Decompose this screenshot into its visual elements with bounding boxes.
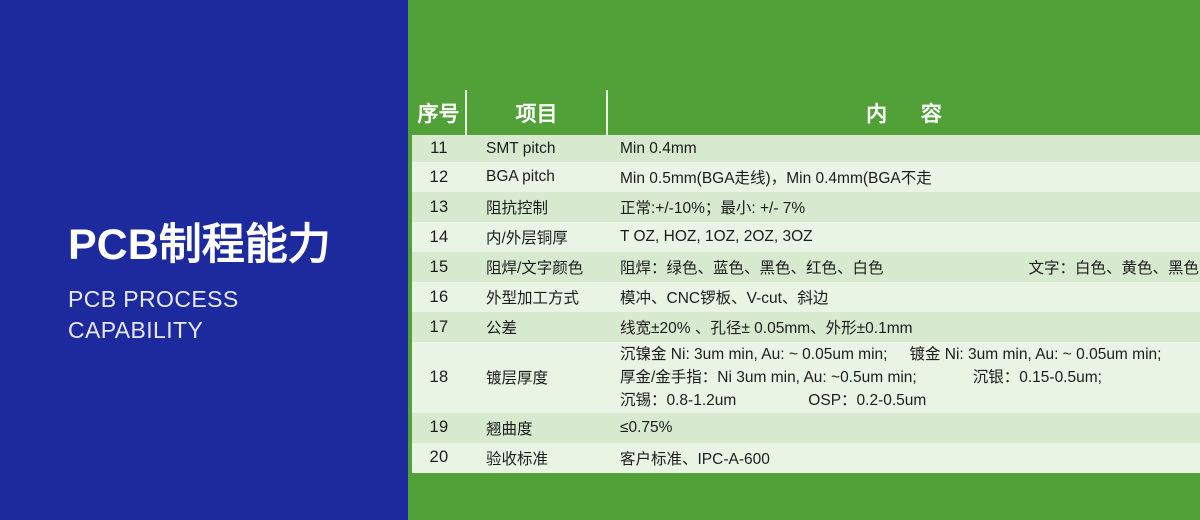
cell-item: SMT pitch (466, 135, 607, 162)
cell-item: 镀层厚度 (466, 342, 607, 413)
spec-table-body: 11 SMT pitch Min 0.4mm 12 BGA pitch Min … (412, 135, 1200, 473)
table-row: 20 验收标准 客户标准、IPC-A-600 (412, 443, 1200, 473)
cell-item: 验收标准 (466, 443, 607, 473)
line-seg-b: 镀金 Ni: 3um min, Au: ~ 0.05um min; (909, 346, 1161, 363)
title-block: PCB制程能力 PCB PROCESS CAPABILITY (68, 222, 331, 345)
cell-content: 正常:+/-10%；最小: +/- 7% (607, 192, 1200, 222)
page-title-cn: PCB制程能力 (68, 222, 331, 268)
cell-item: 外型加工方式 (466, 282, 607, 312)
cell-no: 15 (412, 252, 466, 282)
cell-item: 阻抗控制 (466, 192, 607, 222)
cell-item: 内/外层铜厚 (466, 222, 607, 252)
page-subtitle-line2: CAPABILITY (68, 315, 331, 345)
cell-no: 18 (412, 342, 466, 413)
cell-content-multiline: 沉镍金 Ni: 3um min, Au: ~ 0.05um min;镀金 Ni:… (620, 342, 1200, 413)
cell-content-line: 沉镍金 Ni: 3um min, Au: ~ 0.05um min;镀金 Ni:… (620, 344, 1200, 367)
cell-no: 11 (412, 135, 466, 162)
cell-no: 12 (412, 162, 466, 192)
table-row: 12 BGA pitch Min 0.5mm(BGA走线)，Min 0.4mm(… (412, 162, 1200, 192)
slide-root: PCB制程能力 PCB PROCESS CAPABILITY 序号 项目 内 容 (0, 0, 1200, 520)
spec-panel: 序号 项目 内 容 11 SMT pitch Min 0.4mm 12 BGA … (408, 0, 1200, 520)
cell-content-line: 厚金/金手指：Ni 3um min, Au: ~0.5um min;沉银：0.1… (620, 367, 1200, 390)
cell-item: 阻焊/文字颜色 (466, 252, 607, 282)
table-row: 15 阻焊/文字颜色 阻焊：绿色、蓝色、黑色、红色、白色 文字：白色、黄色、黑色 (412, 252, 1200, 282)
line-seg-a: 沉锡：0.8-1.2um (620, 392, 736, 409)
cell-no: 16 (412, 282, 466, 312)
cell-no: 17 (412, 312, 466, 342)
cell-no: 13 (412, 192, 466, 222)
cell-content: Min 0.4mm (607, 135, 1200, 162)
spec-table-head: 序号 项目 内 容 (412, 90, 1200, 135)
cell-content: 模冲、CNC锣板、V-cut、斜边 (607, 282, 1200, 312)
table-row: 19 翘曲度 ≤0.75% (412, 413, 1200, 443)
column-header-no: 序号 (412, 90, 466, 135)
cell-content: 线宽±20% 、孔径± 0.05mm、外形±0.1mm (607, 312, 1200, 342)
cell-no: 19 (412, 413, 466, 443)
line-seg-a: 沉镍金 Ni: 3um min, Au: ~ 0.05um min; (620, 346, 887, 363)
spec-table-wrap: 序号 项目 内 容 11 SMT pitch Min 0.4mm 12 BGA … (412, 90, 1200, 446)
table-row: 14 内/外层铜厚 T OZ, HOZ, 1OZ, 2OZ, 3OZ (412, 222, 1200, 252)
cell-content: 阻焊：绿色、蓝色、黑色、红色、白色 文字：白色、黄色、黑色 (607, 252, 1200, 282)
table-header-row: 序号 项目 内 容 (412, 90, 1200, 135)
table-row: 18 镀层厚度 沉镍金 Ni: 3um min, Au: ~ 0.05um mi… (412, 342, 1200, 413)
page-subtitle-en: PCB PROCESS CAPABILITY (68, 284, 331, 345)
column-header-item: 项目 (466, 90, 607, 135)
cell-item: BGA pitch (466, 162, 607, 192)
cell-content: 沉镍金 Ni: 3um min, Au: ~ 0.05um min;镀金 Ni:… (607, 342, 1200, 413)
line-seg-b: OSP：0.2-0.5um (808, 392, 926, 409)
cell-content-part-a: 阻焊：绿色、蓝色、黑色、红色、白色 (620, 256, 884, 278)
line-seg-b: 沉银：0.15-0.5um; (973, 369, 1102, 386)
cell-content-line: 沉锡：0.8-1.2umOSP：0.2-0.5um (620, 390, 1200, 413)
cell-content: 客户标准、IPC-A-600 (607, 443, 1200, 473)
hero-panel: PCB制程能力 PCB PROCESS CAPABILITY (0, 0, 408, 520)
table-row: 16 外型加工方式 模冲、CNC锣板、V-cut、斜边 (412, 282, 1200, 312)
cell-content: Min 0.5mm(BGA走线)，Min 0.4mm(BGA不走 (607, 162, 1200, 192)
table-row: 17 公差 线宽±20% 、孔径± 0.05mm、外形±0.1mm (412, 312, 1200, 342)
line-seg-a: 厚金/金手指：Ni 3um min, Au: ~0.5um min; (620, 369, 917, 386)
cell-item: 公差 (466, 312, 607, 342)
table-row: 11 SMT pitch Min 0.4mm (412, 135, 1200, 162)
cell-content-part-b: 文字：白色、黄色、黑色 (1029, 256, 1200, 278)
cell-no: 14 (412, 222, 466, 252)
page-subtitle-line1: PCB PROCESS (68, 284, 331, 314)
table-row: 13 阻抗控制 正常:+/-10%；最小: +/- 7% (412, 192, 1200, 222)
spec-table: 序号 项目 内 容 11 SMT pitch Min 0.4mm 12 BGA … (412, 90, 1200, 473)
column-header-content: 内 容 (607, 90, 1200, 135)
cell-content: T OZ, HOZ, 1OZ, 2OZ, 3OZ (607, 222, 1200, 252)
cell-content: ≤0.75% (607, 413, 1200, 443)
cell-item: 翘曲度 (466, 413, 607, 443)
cell-no: 20 (412, 443, 466, 473)
